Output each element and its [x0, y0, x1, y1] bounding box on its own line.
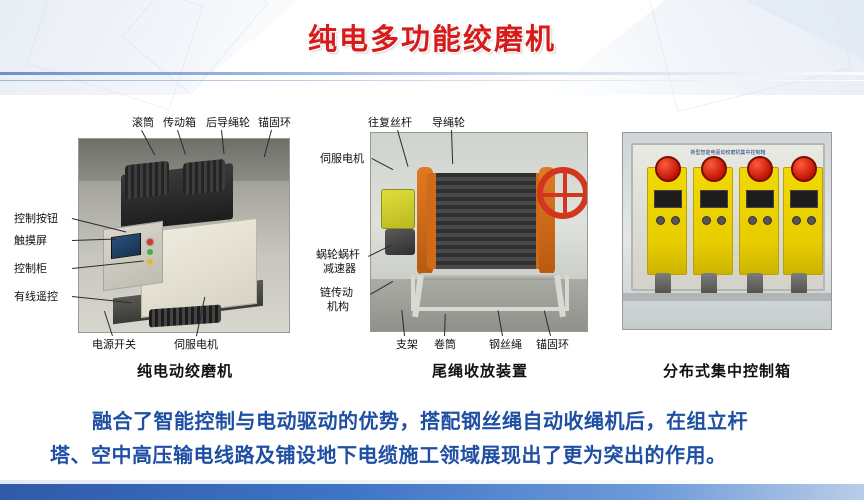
photo3-emergency-stop-4 — [791, 156, 817, 182]
photo1-button-green — [147, 249, 153, 255]
photo2-servo-motor — [381, 189, 415, 229]
photo3-connector-3 — [747, 273, 763, 295]
label-bracket: 支架 — [396, 338, 418, 351]
photo1-drum-left — [125, 161, 169, 200]
photo3-display-3 — [746, 190, 774, 208]
photo-winch-machine — [78, 138, 290, 333]
caption-panel-3: 分布式集中控制箱 — [612, 360, 842, 381]
label-anchor-ring: 锚固环 — [258, 116, 291, 129]
photo2-handwheel — [537, 167, 588, 219]
label-worm-reducer-line2: 减速器 — [323, 262, 356, 275]
photo1-button-yellow — [147, 259, 153, 265]
photo2-worm-gear-reducer — [385, 229, 415, 255]
photo3-switch-3a — [748, 216, 757, 225]
label-rear-rope-guide: 后导绳轮 — [206, 116, 250, 129]
label-anchor-ring-2: 锚固环 — [536, 338, 569, 351]
background-divider-line-thin — [0, 80, 864, 81]
photo3-connector-4 — [791, 273, 807, 295]
label-control-buttons: 控制按钮 — [14, 212, 58, 225]
photo1-drum-right — [183, 159, 225, 195]
slide-title: 纯电多功能绞磨机 — [0, 16, 864, 58]
photo3-switch-1b — [671, 216, 680, 225]
photo3-control-unit-1 — [647, 167, 687, 275]
paragraph-line-1: 融合了智能控制与电动驱动的优势，搭配钢丝绳自动收绳机后，在组立杆 — [92, 409, 748, 433]
paragraph-line-2: 塔、空中高压输电线路及铺设地下电缆施工领域展现出了更为突出的作用。 — [50, 443, 727, 467]
photo3-display-1 — [654, 190, 682, 208]
photo3-control-unit-4 — [783, 167, 823, 275]
label-chain-drive-line1: 链传动 — [320, 286, 353, 299]
photo3-display-4 — [790, 190, 818, 208]
photo3-control-unit-3 — [739, 167, 779, 275]
label-drum-2: 卷筒 — [434, 338, 456, 351]
photo3-connector-2 — [701, 273, 717, 295]
label-transmission-box: 传动箱 — [163, 116, 196, 129]
label-steel-wire-rope: 钢丝绳 — [489, 338, 522, 351]
label-chain-drive-line2: 机构 — [327, 300, 349, 313]
photo3-connector-1 — [655, 273, 671, 295]
photo3-display-2 — [700, 190, 728, 208]
photo3-emergency-stop-2 — [701, 156, 727, 182]
label-servo-motor-1: 伺服电机 — [174, 338, 218, 351]
label-power-switch: 电源开关 — [92, 338, 136, 351]
background-bottom-band — [0, 484, 864, 500]
label-wired-remote: 有线遥控 — [14, 290, 58, 303]
label-control-cabinet: 控制柜 — [14, 262, 47, 275]
label-reciprocating-screw: 往复丝杆 — [368, 116, 412, 129]
photo3-switch-4a — [792, 216, 801, 225]
label-touch-screen: 触摸屏 — [14, 234, 47, 247]
photo3-box-title: 新型智能电驱动绞磨机集中控制箱 — [653, 149, 803, 156]
photo2-support-frame — [411, 275, 569, 311]
label-servo-motor-2: 伺服电机 — [320, 152, 364, 165]
photo3-switch-2a — [702, 216, 711, 225]
photo2-rope-reel — [427, 173, 545, 269]
label-rope-guide-wheel: 导绳轮 — [432, 116, 465, 129]
photo3-emergency-stop-1 — [655, 156, 681, 182]
photo3-switch-1a — [656, 216, 665, 225]
photo1-button-red — [147, 239, 153, 245]
label-worm-reducer-line1: 蜗轮蜗杆 — [316, 248, 360, 261]
photo3-switch-4b — [807, 216, 816, 225]
photo3-emergency-stop-3 — [747, 156, 773, 182]
photo3-switch-3b — [763, 216, 772, 225]
body-paragraph: 融合了智能控制与电动驱动的优势，搭配钢丝绳自动收绳机后，在组立杆 塔、空中高压输… — [50, 404, 818, 472]
caption-panel-1: 纯电动绞磨机 — [60, 360, 310, 381]
label-drum: 滚筒 — [132, 116, 154, 129]
caption-panel-2: 尾绳收放装置 — [355, 360, 605, 381]
photo-control-box: 新型智能电驱动绞磨机集中控制箱 控制单元 控制单元 控制单元 控制单元 — [622, 132, 832, 330]
photo1-touch-screen — [111, 233, 141, 259]
photo-tail-rope-device — [370, 132, 588, 332]
photo3-switch-2b — [717, 216, 726, 225]
background-divider-line — [0, 72, 864, 75]
photo3-control-unit-2 — [693, 167, 733, 275]
slide-root: 纯电多功能绞磨机 滚筒 传动箱 后导绳轮 锚固环 控制按钮 触摸屏 — [0, 0, 864, 500]
photo3-floor-rail — [623, 293, 832, 301]
